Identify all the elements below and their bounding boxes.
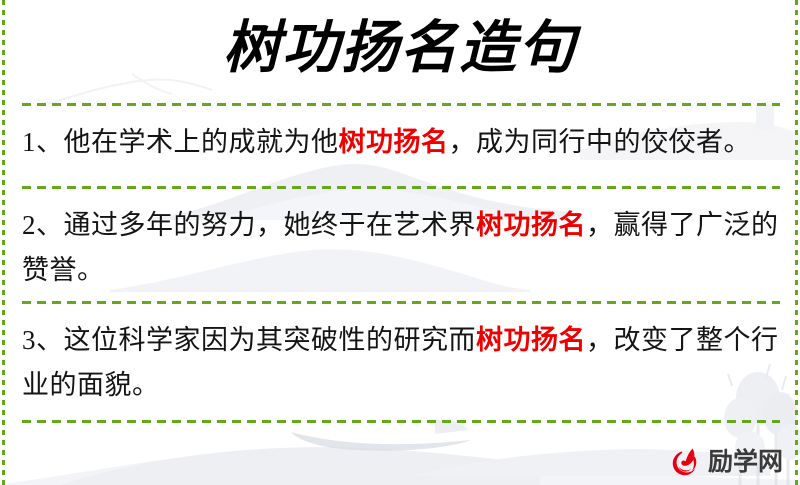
separator-below-title xyxy=(22,103,780,106)
sentence-item-1: 1、他在学术上的成就为他树功扬名，成为同行中的佼佼者。 xyxy=(22,120,782,165)
sentence-1-text-before: 他在学术上的成就为他 xyxy=(64,127,339,157)
separator-after-sentence-1 xyxy=(22,186,780,189)
page-title: 树功扬名造句 xyxy=(0,12,800,86)
sentence-3-text-before: 这位科学家因为其突破性的研究而 xyxy=(64,325,477,355)
flame-swirl-icon xyxy=(668,444,704,480)
sentence-1-idiom: 树功扬名 xyxy=(339,127,449,157)
sentence-item-3: 3、这位科学家因为其突破性的研究而树功扬名，改变了整个行业的面貌。 xyxy=(22,318,782,408)
sentence-3-index: 3、 xyxy=(22,325,64,355)
separator-after-sentence-3 xyxy=(22,420,780,423)
sentence-3-idiom: 树功扬名 xyxy=(476,325,586,355)
separator-after-sentence-2 xyxy=(22,301,780,304)
sentence-1-text-after: ，成为同行中的佼佼者。 xyxy=(449,127,752,157)
sentence-1-index: 1、 xyxy=(22,127,64,157)
site-logo[interactable]: 励学网 xyxy=(668,443,783,481)
sentence-2-text-before: 通过多年的努力，她终于在艺术界 xyxy=(64,210,477,240)
sentence-2-index: 2、 xyxy=(22,210,64,240)
site-logo-text: 励学网 xyxy=(708,448,783,476)
sentence-card-page: 树功扬名造句 1、他在学术上的成就为他树功扬名，成为同行中的佼佼者。 2、通过多… xyxy=(0,0,800,485)
sentence-2-idiom: 树功扬名 xyxy=(476,210,586,240)
watermark-boat xyxy=(285,418,485,454)
sentence-item-2: 2、通过多年的努力，她终于在艺术界树功扬名，赢得了广泛的赞誉。 xyxy=(22,203,782,293)
